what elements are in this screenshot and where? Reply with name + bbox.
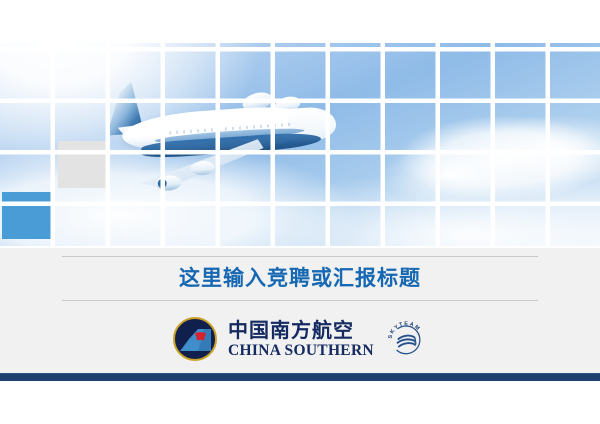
brand-name-en: CHINA SOUTHERN	[228, 343, 374, 359]
mosaic-top-margin	[0, 0, 600, 43]
title-slide: 这里输入竞聘或汇报标题 中国南方航空 CHINA SOUTHERN	[0, 0, 600, 424]
airplane-illustration	[88, 59, 346, 196]
footer-whitespace	[0, 381, 600, 424]
footer-accent-bar	[0, 373, 600, 381]
hero-image-mosaic	[0, 0, 600, 248]
mosaic-blue-tile	[2, 192, 51, 239]
divider-bottom	[62, 300, 538, 301]
china-southern-roundel-icon	[173, 317, 217, 361]
divider-top	[62, 256, 538, 257]
skyteam-logo-icon: SKYTEAM	[385, 318, 427, 360]
brand-wordmark: 中国南方航空 CHINA SOUTHERN	[228, 320, 374, 359]
mosaic-gray-tile	[58, 141, 109, 188]
page-title[interactable]: 这里输入竞聘或汇报标题	[0, 262, 600, 294]
brand-name-cn: 中国南方航空	[228, 320, 374, 340]
title-panel: 这里输入竞聘或汇报标题 中国南方航空 CHINA SOUTHERN	[0, 248, 600, 373]
brand-lockup: 中国南方航空 CHINA SOUTHERN SKYTEAM	[0, 310, 600, 368]
